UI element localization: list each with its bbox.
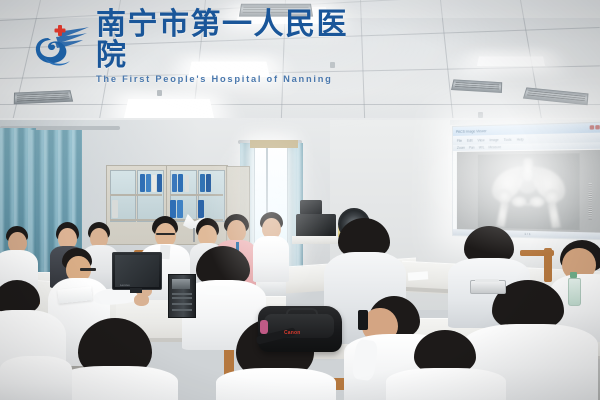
- ceiling-air-vent: [523, 87, 589, 105]
- projected-xray-screen[interactable]: PACS Image Viewer File Edit View Image T…: [452, 122, 600, 241]
- monitor-brand-label: Lenovo: [120, 283, 130, 287]
- bag-pocket: [260, 320, 268, 334]
- ceiling-sprinkler-icon: [157, 90, 162, 96]
- ceiling-air-vent: [14, 90, 73, 104]
- tool-button[interactable]: Zoom: [457, 146, 465, 150]
- file-binder: [178, 174, 183, 192]
- viewer-title-text: PACS Image Viewer: [456, 129, 487, 134]
- gesturing-hand: [134, 294, 149, 306]
- paper-documents: [408, 271, 429, 280]
- side-equipment: [296, 214, 336, 238]
- file-binder: [112, 200, 118, 218]
- tool-button[interactable]: W/L: [479, 145, 485, 149]
- bird-swoosh-with-red-cross-icon: [34, 24, 90, 70]
- hospital-logo-watermark: 南宁市第一人民医院 The First People's Hospital of…: [34, 18, 354, 76]
- mobile-phone: [358, 310, 368, 330]
- file-binder: [146, 174, 151, 192]
- pc-tower: [168, 274, 196, 318]
- file-binder: [200, 174, 205, 192]
- menu-item[interactable]: View: [477, 138, 484, 142]
- minimize-icon[interactable]: [590, 125, 595, 129]
- file-binder: [206, 174, 211, 192]
- file-binder: [198, 200, 204, 218]
- video-projector: [470, 280, 506, 294]
- tool-button[interactable]: Pan: [469, 146, 475, 150]
- hospital-name-english: The First People's Hospital of Nanning: [96, 74, 354, 84]
- file-binder: [172, 174, 177, 192]
- file-binder: [185, 175, 189, 192]
- tool-button[interactable]: Measure: [488, 145, 501, 149]
- monitor-stand: [130, 288, 142, 293]
- pelvis-xray-image: [478, 153, 580, 230]
- ceiling-light-panel: [123, 99, 214, 120]
- xray-viewport[interactable]: [457, 150, 600, 233]
- hospital-name-chinese: 南宁市第一人民医院: [96, 10, 354, 71]
- ceiling-air-vent: [451, 79, 502, 93]
- window-valance: [250, 140, 298, 148]
- page-indicator: 1 / 1: [524, 232, 530, 236]
- file-binder: [140, 174, 145, 192]
- file-binder: [170, 200, 176, 218]
- file-binder: [152, 175, 156, 192]
- menu-item[interactable]: Image: [490, 137, 499, 141]
- file-binder: [157, 174, 162, 192]
- file-binder: [177, 200, 183, 218]
- side-equipment: [300, 200, 322, 215]
- bag-brand-label: Canon: [284, 330, 301, 336]
- menu-item[interactable]: Edit: [467, 138, 472, 142]
- menu-item[interactable]: Help: [517, 137, 524, 141]
- projector-lens-icon: [473, 284, 480, 291]
- ceiling-light-panel: [477, 56, 545, 66]
- eyeglasses-icon: [80, 268, 96, 271]
- lamp-stand: [193, 228, 195, 242]
- window-controls[interactable]: [590, 125, 600, 130]
- camera-bag: Canon: [258, 306, 342, 352]
- maximize-icon[interactable]: [595, 125, 600, 129]
- paper-documents: [206, 285, 230, 295]
- photo-canvas: PACS Image Viewer File Edit View Image T…: [0, 0, 600, 400]
- projector-top: [475, 279, 499, 282]
- menu-item[interactable]: Tools: [504, 137, 512, 141]
- pc-front-panel: [172, 279, 190, 289]
- grayscale-ruler-icon: [589, 183, 592, 219]
- water-bottle: [568, 278, 581, 306]
- menu-item[interactable]: File: [457, 138, 462, 142]
- wooden-chair: [544, 248, 552, 282]
